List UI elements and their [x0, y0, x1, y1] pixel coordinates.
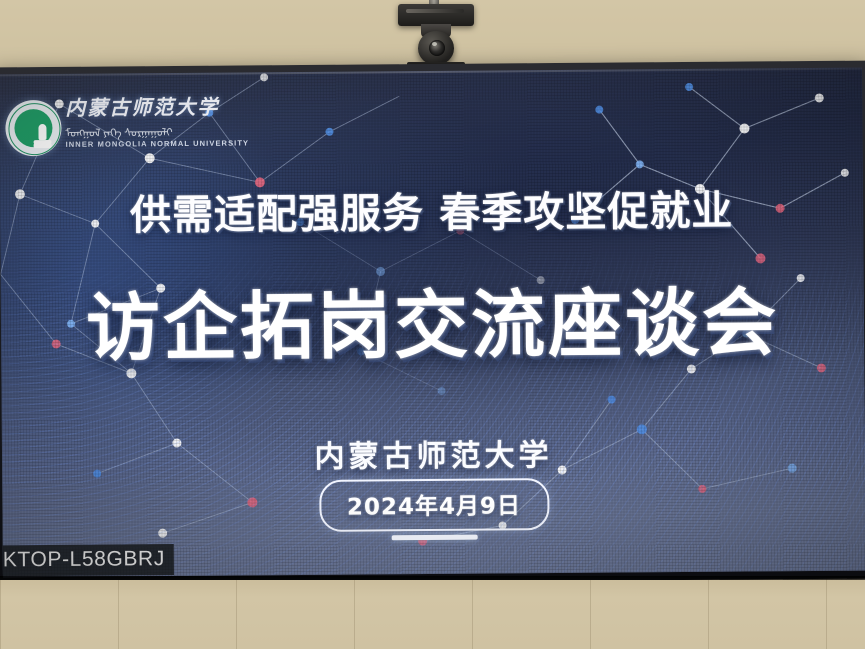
- university-logo: 内蒙古师范大学 ᠮᠣᠩᠭᠣᠯ ᠶᠡᠬᠡ ᠰᠤᠷᠭᠠᠭᠤᠯᠢ INNER MONG…: [5, 95, 206, 167]
- banner-underline: [391, 535, 477, 541]
- led-screen: 内蒙古师范大学 ᠮᠣᠩᠭᠣᠯ ᠶᠡᠬᠡ ᠰᠤᠷᠭᠠᠭᠤᠯᠢ INNER MONG…: [0, 68, 865, 578]
- hostname-overlay: KTOP-L58GBRJ: [0, 544, 174, 576]
- crest-torch-icon: [38, 124, 46, 140]
- logo-name-mn: ᠮᠣᠩᠭᠣᠯ ᠶᠡᠬᠡ ᠰᠤᠷᠭᠠᠭᠤᠯᠢ: [65, 121, 172, 141]
- wall-lower-panel: [0, 580, 865, 649]
- wall-panel-seams: [0, 580, 865, 649]
- crest-base: [34, 143, 52, 148]
- camera-base: [398, 4, 474, 26]
- banner-subtitle: 供需适配强服务 春季攻坚促就业: [0, 176, 863, 243]
- banner-main-title: 访企拓岗交流座谈会: [1, 263, 865, 377]
- camera-lens-icon: [429, 40, 445, 56]
- banner-organization: 内蒙古师范大学: [2, 428, 865, 479]
- university-crest-icon: [5, 100, 61, 156]
- room-scene: 内蒙古师范大学 ᠮᠣᠩᠭᠣᠯ ᠶᠡᠬᠡ ᠰᠤᠷᠭᠠᠭᠤᠯᠢ INNER MONG…: [0, 0, 865, 649]
- banner-date-badge: 2024年4月9日: [319, 478, 549, 532]
- logo-name-en: INNER MONGOLIA NORMAL UNIVERSITY: [66, 138, 250, 148]
- led-screen-frame: 内蒙古师范大学 ᠮᠣᠩᠭᠣᠯ ᠶᠡᠬᠡ ᠰᠤᠷᠭᠠᠭᠤᠯᠢ INNER MONG…: [0, 61, 865, 586]
- crest-inner-circle: [14, 109, 52, 147]
- logo-name-cn: 内蒙古师范大学: [65, 97, 219, 120]
